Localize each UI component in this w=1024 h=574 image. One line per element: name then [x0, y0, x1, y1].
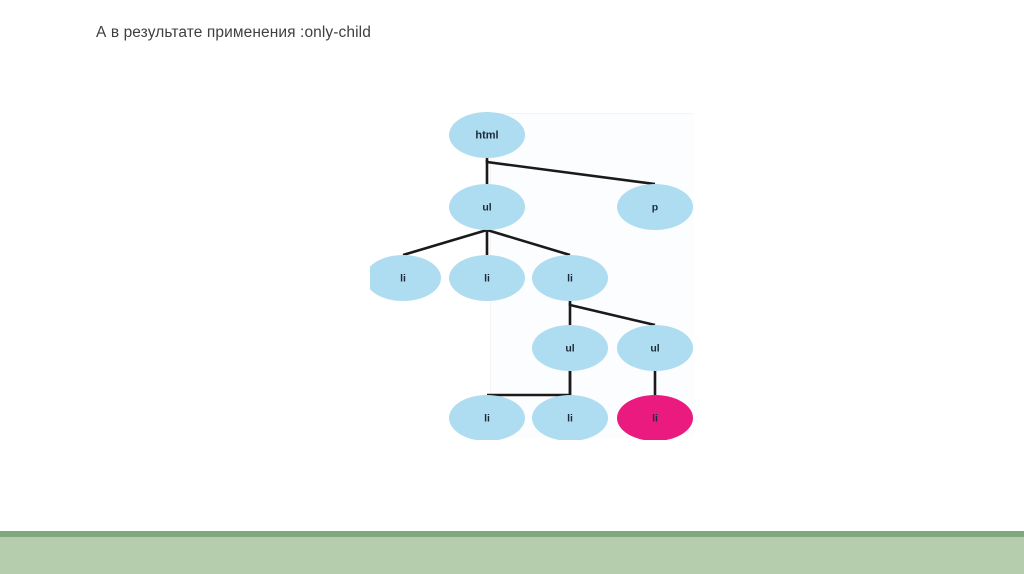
tree-node-li2: li: [449, 255, 525, 301]
tree-node-li3: li: [532, 255, 608, 301]
tree-node-ul3: ul: [617, 325, 693, 371]
tree-node-ul1: ul: [449, 184, 525, 230]
node-label: ul: [482, 202, 491, 214]
tree-node-html: html: [449, 112, 525, 158]
node-label: li: [652, 413, 658, 425]
dom-tree-diagram: htmlulplililiulullilili: [370, 104, 694, 440]
tree-node-li1: li: [370, 255, 441, 301]
node-label: li: [567, 413, 573, 425]
tree-edge-ul1-to-li3: [487, 230, 570, 255]
node-label: li: [400, 273, 406, 285]
tree-node-ul2: ul: [532, 325, 608, 371]
node-label: html: [475, 130, 498, 142]
node-label: ul: [565, 343, 574, 355]
node-label: ul: [650, 343, 659, 355]
dom-tree-svg: htmlulplililiulullilili: [370, 104, 694, 440]
tree-nodes: htmlulplililiulullilili: [370, 112, 693, 440]
tree-node-li5: li: [532, 395, 608, 440]
tree-node-p1: p: [617, 184, 693, 230]
footer-band-light: [0, 537, 1024, 574]
node-label: li: [484, 273, 490, 285]
node-label: li: [484, 413, 490, 425]
tree-edge-ul2-to-li4: [487, 371, 570, 395]
page-title: А в результате применения :only-child: [96, 23, 371, 43]
tree-edge-html-to-p1: [487, 160, 655, 184]
tree-edge-li3-to-ul3: [570, 303, 655, 325]
slide-canvas: А в результате применения :only-child ht…: [0, 0, 1024, 574]
tree-edge-ul1-to-li1: [403, 230, 487, 255]
tree-node-li6: li: [617, 395, 693, 440]
node-label: li: [567, 273, 573, 285]
node-label: p: [652, 202, 658, 214]
tree-node-li4: li: [449, 395, 525, 440]
